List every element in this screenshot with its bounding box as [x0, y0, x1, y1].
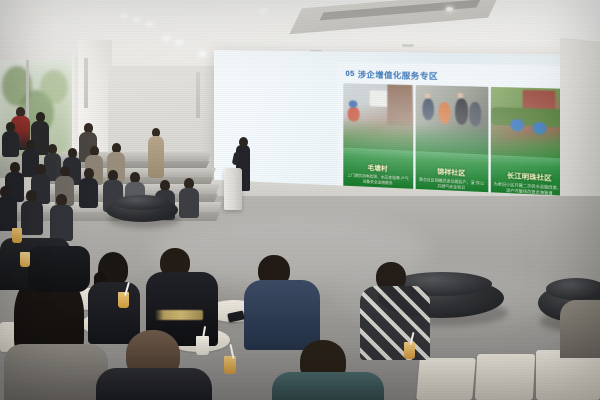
person-torso — [148, 136, 164, 178]
panel-caption: 毛塘村 上门提供用电检测、水压查验等 产气设备安全运维服务 — [345, 164, 410, 187]
person-torso — [79, 178, 98, 208]
floor-cushion[interactable] — [416, 358, 476, 400]
slide-panel: 毛塘村 上门提供用电检测、水压查验等 产气设备安全运维服务 — [343, 83, 412, 191]
downlight-icon — [163, 36, 170, 40]
person-torso — [4, 344, 108, 400]
photo-shape — [457, 93, 463, 99]
person-torso — [0, 197, 17, 231]
screenshot-root: 05 涉企增值化服务专区 毛塘村 上门提供用电检测、水压查验等 产气设备安全运维… — [0, 0, 600, 400]
ceiling-vent-icon — [402, 44, 414, 47]
jacket-logo-text — [155, 310, 203, 320]
person-torso — [244, 280, 320, 350]
photo-shape — [349, 100, 358, 108]
photo-shape — [424, 93, 430, 99]
wall-trim-strip — [196, 72, 200, 118]
slide-title: 涉企增值化服务专区 — [358, 69, 438, 83]
downlight-icon — [260, 9, 267, 13]
downlight-icon — [120, 14, 127, 18]
wall-trim-strip — [84, 58, 88, 108]
presenter-head — [239, 137, 248, 147]
slide-panel: 锦祥社区 联合社区网格员走访居民户，宣 传公共燃气安全知识 — [415, 85, 488, 196]
lectern — [224, 168, 242, 210]
person-torso — [88, 282, 140, 344]
slide-panel: 长江明珠社区 为老旧小区开展二次供水设施改造，推 进户内管线改造合海管道 — [491, 87, 569, 201]
person-torso — [50, 205, 73, 241]
person-torso — [272, 372, 384, 400]
photo-shape — [454, 98, 467, 125]
slide-number: 05 — [345, 71, 354, 79]
downlight-icon — [133, 18, 140, 22]
drink-cup[interactable] — [12, 228, 22, 243]
ottoman-cushion-top — [546, 278, 600, 300]
photo-shape — [438, 102, 450, 124]
downlight-icon — [199, 52, 206, 56]
person-torso — [21, 201, 43, 235]
photo-shape — [422, 98, 434, 120]
downlight-icon — [146, 22, 153, 26]
downlight-icon — [176, 40, 183, 44]
ottoman-cushion-top — [114, 195, 170, 210]
floor-cushion[interactable] — [475, 354, 535, 400]
person-torso — [179, 188, 199, 218]
person-torso — [96, 368, 212, 400]
drink-cup[interactable] — [20, 252, 30, 267]
person-torso — [360, 286, 430, 360]
person-torso — [28, 246, 90, 292]
downlight-icon — [446, 7, 453, 11]
person-torso — [560, 300, 600, 358]
drink-cup[interactable] — [224, 356, 236, 374]
foliage-shape — [40, 70, 68, 104]
person-torso — [2, 131, 19, 157]
